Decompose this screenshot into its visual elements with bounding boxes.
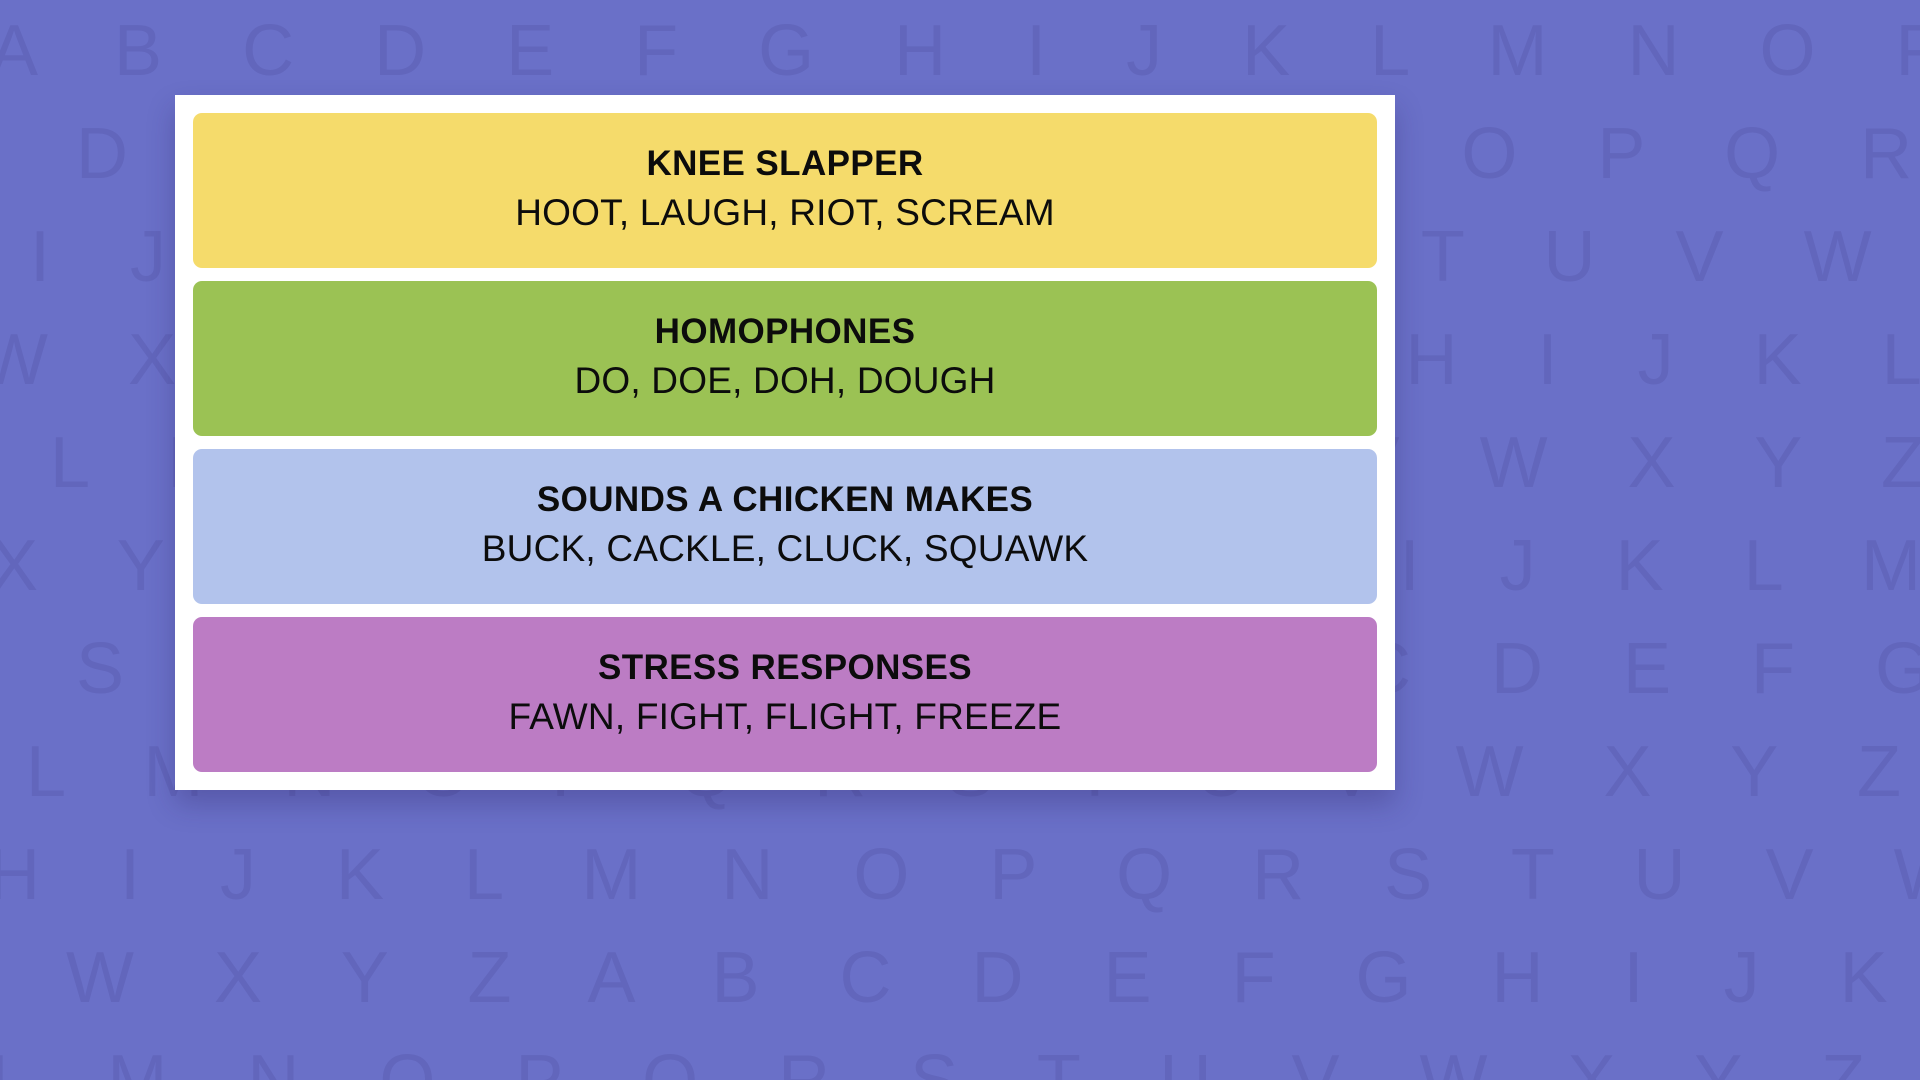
background-letter-row: U V W X Y Z A B C D E F G H I J K L M N … xyxy=(0,927,1920,1030)
category-words: DO, DOE, DOH, DOUGH xyxy=(574,358,995,404)
category-words: BUCK, CACKLE, CLUCK, SQUAWK xyxy=(482,526,1088,572)
category-title: SOUNDS A CHICKEN MAKES xyxy=(537,481,1033,520)
background-letter-row: G H I J K L M N O P Q R S T U V W X Y Z … xyxy=(0,824,1920,927)
category-title: KNEE SLAPPER xyxy=(646,145,923,184)
connections-solved-board: KNEE SLAPPER HOOT, LAUGH, RIOT, SCREAM H… xyxy=(175,95,1395,790)
category-row-purple[interactable]: STRESS RESPONSES FAWN, FIGHT, FLIGHT, FR… xyxy=(193,617,1377,772)
category-row-blue[interactable]: SOUNDS A CHICKEN MAKES BUCK, CACKLE, CLU… xyxy=(193,449,1377,604)
category-title: HOMOPHONES xyxy=(655,313,916,352)
background-letter-row: A B C D E F G H I J K L M N O P Q R S T … xyxy=(0,0,1920,103)
category-row-green[interactable]: HOMOPHONES DO, DOE, DOH, DOUGH xyxy=(193,281,1377,436)
category-row-yellow[interactable]: KNEE SLAPPER HOOT, LAUGH, RIOT, SCREAM xyxy=(193,113,1377,268)
category-words: HOOT, LAUGH, RIOT, SCREAM xyxy=(515,190,1055,236)
category-words: FAWN, FIGHT, FLIGHT, FREEZE xyxy=(509,694,1062,740)
background-letter-row: L M N O P Q R S T U V W X Y Z A B C D E … xyxy=(0,1030,1920,1080)
category-title: STRESS RESPONSES xyxy=(598,649,972,688)
